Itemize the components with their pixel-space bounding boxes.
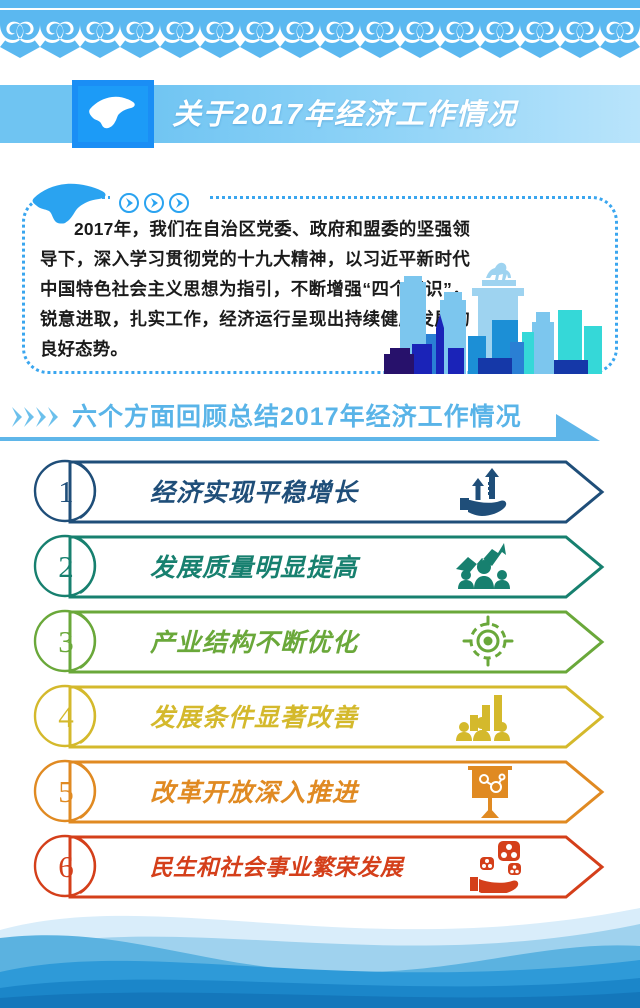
list-item[interactable]: 1 经济实现平稳增长 (32, 458, 606, 526)
item-number: 1 (32, 458, 100, 524)
item-label: 经济实现平稳增长 (150, 458, 358, 524)
list-item[interactable]: 5 改革开放深入推进 (32, 758, 606, 826)
section-flag-arrow-icon (556, 414, 600, 441)
city-skyline-icon (382, 248, 610, 374)
people-with-rising-chart-icon (452, 539, 516, 593)
blue-wave-decoration (0, 868, 640, 1008)
item-number: 5 (32, 758, 100, 824)
item-label: 发展条件显著改善 (150, 683, 358, 749)
item-number: 2 (32, 533, 100, 599)
page-title: 关于2017年经济工作情况 (172, 88, 517, 142)
double-chevron-right-icon (10, 404, 68, 430)
item-label: 改革开放深入推进 (150, 758, 358, 824)
gear-target-icon (456, 614, 520, 668)
list-item[interactable]: 4 发展条件显著改善 (32, 683, 606, 751)
presentation-board-icon (458, 764, 522, 818)
hand-with-growth-arrows-icon (452, 464, 516, 518)
list-item[interactable]: 2 发展质量明显提高 (32, 533, 606, 601)
item-label: 产业结构不断优化 (150, 608, 358, 674)
list-item[interactable]: 3 产业结构不断优化 (32, 608, 606, 676)
top-accent-bar (0, 0, 640, 8)
people-with-bar-chart-icon (454, 689, 518, 743)
infographic-poster: 关于2017年经济工作情况 2017年，我们在自治区党委、政府和盟委的坚强领导下… (0, 0, 640, 1008)
header-badge (78, 86, 148, 142)
item-number: 3 (32, 608, 100, 674)
item-number: 4 (32, 683, 100, 749)
item-label: 发展质量明显提高 (150, 533, 358, 599)
camel-statue-icon (486, 263, 511, 280)
section-heading: 六个方面回顾总结2017年经济工作情况 (72, 398, 522, 436)
section-underline (0, 437, 556, 441)
mongolian-cloud-border-icon (0, 10, 640, 58)
region-map-icon (86, 93, 140, 135)
chevron-right-circle-icon (116, 192, 202, 214)
